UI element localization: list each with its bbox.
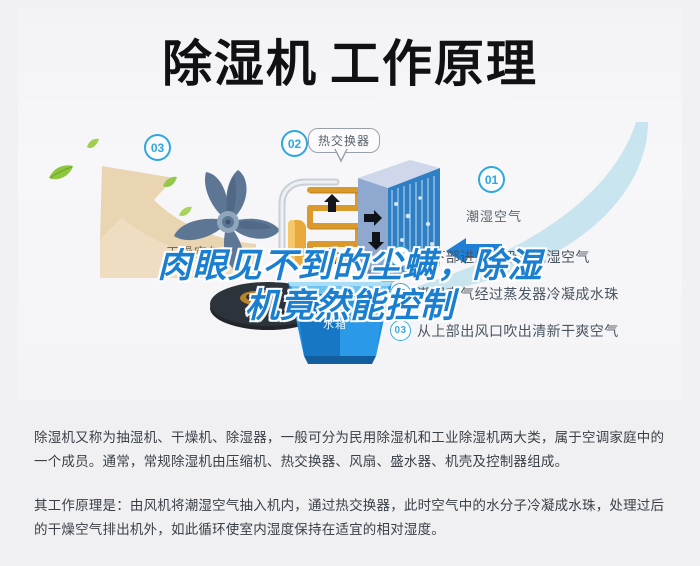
step-badge: 01 [390,246,411,267]
humid-air-label: 潮湿空气 [466,206,522,225]
infographic-page: 除湿机工作原理 干燥空气 [0,0,700,566]
step-badge: 02 [390,283,411,304]
leaf-icon [48,164,74,182]
body-paragraph-2: 其工作原理是：由风机将潮湿空气抽入机内，通过热交换器，此时空气中的水分子冷凝成水… [0,474,700,542]
step-text: 从下部进风口吸进潮湿空气 [417,247,590,267]
step-text: 潮湿空气经过蒸发器冷凝成水珠 [417,284,619,304]
body-paragraph-1: 除湿机又称为抽湿机、干燥机、除湿器，一般可分为民用除湿机和工业除湿机两大类，属于… [0,406,700,474]
badge-dry-air: 03 [144,134,171,161]
step-item: 03 从上部出风口吹出清新干爽空气 [390,312,682,349]
hero-section: 除湿机工作原理 干燥空气 [0,0,700,402]
step-badge: 03 [390,320,411,341]
steps-list: 01 从下部进风口吸进潮湿空气 02 潮湿空气经过蒸发器冷凝成水珠 03 从上部… [390,238,682,349]
badge-humid-air: 01 [478,166,505,193]
step-item: 01 从下部进风口吸进潮湿空气 [390,238,682,275]
badge-heat-exchanger: 02 [281,130,308,157]
water-tank-label: 水箱 [323,316,347,332]
diagram-stage: 干燥空气 [18,120,682,400]
hero-card: 除湿机工作原理 干燥空气 [18,8,682,400]
step-item: 02 潮湿空气经过蒸发器冷凝成水珠 [390,275,682,312]
step-text: 从上部出风口吹出清新干爽空气 [417,321,619,341]
page-title: 除湿机工作原理 [18,36,682,92]
title-part-2: 工作原理 [330,36,538,92]
title-part-1: 除湿机 [162,36,318,92]
article-body: 除湿机又称为抽湿机、干燥机、除湿器，一般可分为民用除湿机和工业除湿机两大类，属于… [0,406,700,566]
leaf-icon [86,138,100,150]
